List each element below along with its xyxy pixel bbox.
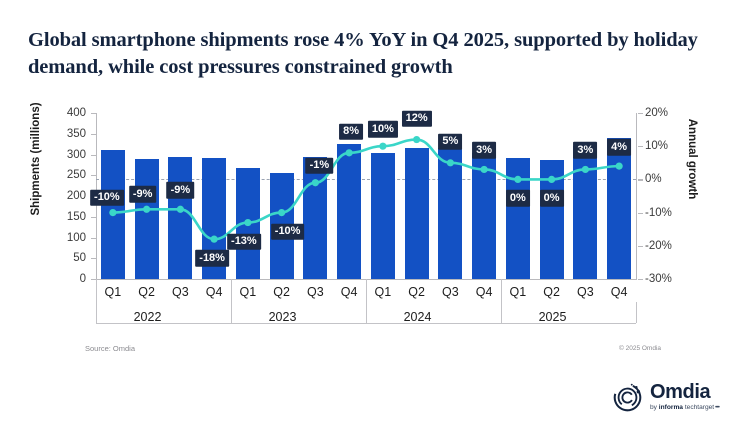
- growth-marker-2023-Q1: [244, 219, 251, 226]
- y-axis-left-title: Shipments (millions): [30, 79, 42, 239]
- plot-area: -10%-9%-9%-18%-13%-10%-1%8%10%12%5%3%0%0…: [96, 113, 636, 279]
- growth-label-2024-Q2: 12%: [402, 110, 432, 127]
- y-axis-left-tick-label: 150: [40, 211, 86, 223]
- growth-label-2025-Q2: 0%: [540, 190, 564, 207]
- x-group-divider: [366, 279, 367, 323]
- x-group-divider: [636, 302, 637, 323]
- y-axis-right-tick: [638, 179, 643, 180]
- x-group-label-2025: 2025: [513, 310, 593, 324]
- growth-label-2024-Q4: 3%: [472, 142, 496, 159]
- growth-label-2023-Q4: 8%: [339, 124, 363, 141]
- growth-marker-2025-Q1: [514, 176, 521, 183]
- y-axis-left-tick-label: 250: [40, 169, 86, 181]
- growth-label-2024-Q3: 5%: [438, 134, 462, 151]
- growth-marker-2024-Q2: [413, 136, 420, 143]
- chart-container: 400350300250200150100500 20%10%0%-10%-20…: [0, 100, 750, 350]
- growth-marker-2022-Q3: [177, 206, 184, 213]
- y-axis-right-tick: [638, 213, 643, 214]
- omdia-logo: Omdia by informa techtarget •••: [612, 379, 742, 415]
- omdia-logo-text: Omdia by informa techtarget •••: [650, 382, 719, 411]
- x-group-divider: [231, 279, 232, 323]
- tagline-techtarget: techtarget: [683, 404, 714, 411]
- growth-label-2025-Q4: 4%: [607, 139, 631, 156]
- growth-label-2022-Q3: -9%: [167, 182, 195, 199]
- x-group-label-2024: 2024: [378, 310, 458, 324]
- chart-page: Global smartphone shipments rose 4% YoY …: [0, 0, 750, 421]
- y-axis-right-tick: [638, 146, 643, 147]
- x-group-divider: [501, 279, 502, 323]
- omdia-tagline: by informa techtarget •••: [650, 405, 719, 412]
- copyright-note: © 2025 Omdia: [619, 345, 661, 352]
- growth-marker-2023-Q4: [346, 149, 353, 156]
- y-axis-right-tick-label: -20%: [645, 240, 693, 252]
- growth-marker-2024-Q1: [379, 143, 386, 150]
- growth-marker-2022-Q2: [143, 206, 150, 213]
- growth-label-2023-Q3: -1%: [306, 157, 334, 174]
- y-axis-right: [636, 113, 637, 279]
- omdia-wordmark: Omdia: [650, 382, 719, 402]
- growth-label-2022-Q2: -9%: [129, 186, 157, 203]
- x-group-label-2022: 2022: [108, 310, 188, 324]
- growth-label-2022-Q1: -10%: [90, 189, 124, 206]
- x-group-label-2023: 2023: [243, 310, 323, 324]
- y-axis-left-tick-label: 100: [40, 232, 86, 244]
- growth-marker-2025-Q3: [582, 166, 589, 173]
- tagline-prefix: by: [650, 404, 659, 411]
- growth-marker-2023-Q3: [312, 179, 319, 186]
- source-note: Source: Omdia: [85, 344, 135, 353]
- y-axis-right-tick: [638, 279, 643, 280]
- growth-label-2023-Q1: -13%: [227, 233, 261, 250]
- y-axis-right-tick-label: -30%: [645, 273, 693, 285]
- growth-label-2024-Q1: 10%: [368, 121, 398, 138]
- growth-marker-2025-Q4: [616, 163, 623, 170]
- y-axis-left-tick-label: 200: [40, 190, 86, 202]
- growth-label-2025-Q3: 3%: [573, 142, 597, 159]
- y-axis-left-tick-label: 350: [40, 128, 86, 140]
- y-axis-left-tick-label: 50: [40, 252, 86, 264]
- growth-label-2025-Q1: 0%: [506, 190, 530, 207]
- growth-marker-2022-Q4: [211, 236, 218, 243]
- tagline-informa: informa: [659, 404, 683, 411]
- growth-label-2023-Q2: -10%: [271, 223, 305, 240]
- growth-marker-2024-Q4: [481, 166, 488, 173]
- y-axis-left-tick-label: 0: [40, 273, 86, 285]
- page-title: Global smartphone shipments rose 4% YoY …: [28, 27, 728, 82]
- x-group-divider: [96, 279, 97, 323]
- tagline-dots: •••: [714, 404, 719, 411]
- y-axis-right-tick: [638, 113, 643, 114]
- omdia-mark-icon: [612, 382, 643, 413]
- y-axis-left-labels: 400350300250200150100500: [36, 113, 86, 279]
- growth-marker-2025-Q2: [548, 176, 555, 183]
- growth-marker-2024-Q3: [447, 159, 454, 166]
- y-axis-left-tick-label: 300: [40, 149, 86, 161]
- y-axis-right-tick: [638, 246, 643, 247]
- growth-marker-2022-Q1: [109, 209, 116, 216]
- growth-label-2022-Q4: -18%: [195, 250, 229, 267]
- y-axis-right-title: Annual growth: [686, 79, 698, 239]
- x-tick-label-2025-Q4: Q4: [599, 285, 639, 299]
- growth-marker-2023-Q2: [278, 209, 285, 216]
- y-axis-left-tick-label: 400: [40, 107, 86, 119]
